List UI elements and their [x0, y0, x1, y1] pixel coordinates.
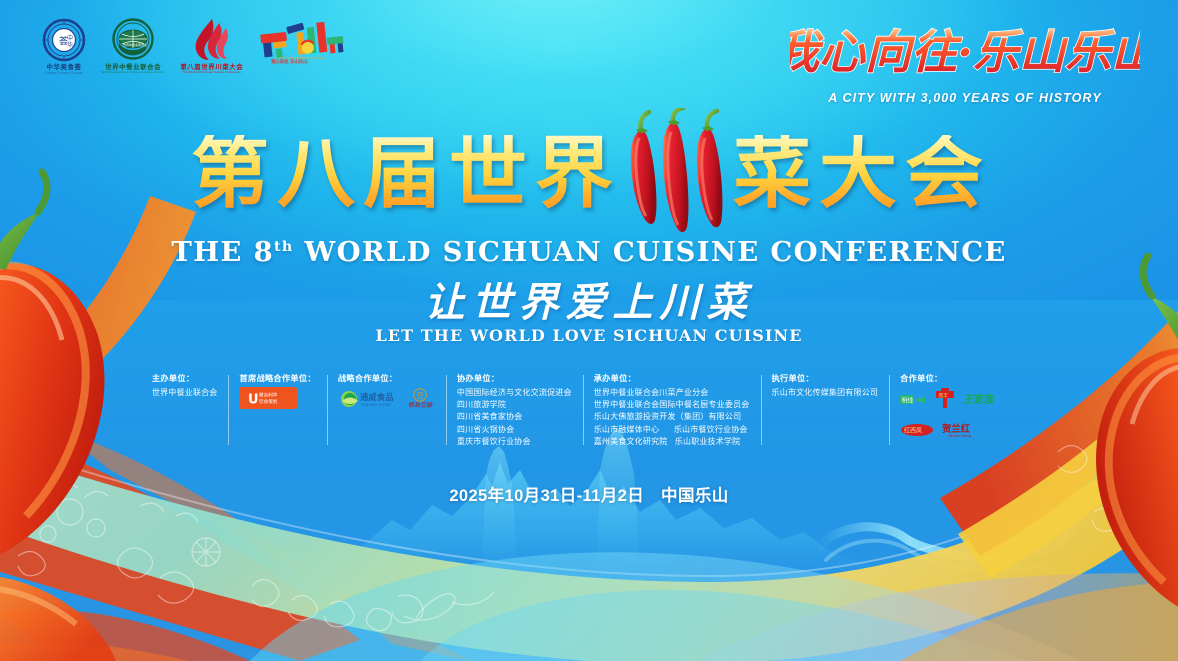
- svg-text:He Lan Hong: He Lan Hong: [948, 434, 971, 438]
- logo-caption-en: World Federation of Chinese Catering Ind…: [102, 71, 165, 74]
- title-char: 菜: [731, 135, 817, 213]
- credit-heading: 战略合作单位：: [338, 372, 435, 384]
- red-flame-icon: [186, 18, 238, 62]
- svg-text:中: 中: [67, 34, 73, 42]
- wangjiaxiang-icon: 王家渡: [964, 392, 1004, 406]
- credit-column-co-organizers: 协办单位： 中国国际经济与文化交流促进会 四川旅游学院 四川省美食家协会 四川省…: [446, 372, 583, 448]
- he-lan-hong-icon: 贺兰红 He Lan Hong: [942, 422, 986, 438]
- main-title-cn: 第 八 届 世 界: [0, 126, 1178, 222]
- credit-column-strategic-partners: 战略合作单位： 通威食品 TONGWEI FOODS: [327, 372, 446, 448]
- credit-line: 四川省火锅协会: [457, 424, 572, 436]
- city-slogan-en: A CITY WITH 3,000 YEARS OF HISTORY: [790, 91, 1140, 105]
- logo-leshan-city-brand: 我心向往 乐山乐山 A CITY WITH 3,000 YEARS OF HIS…: [257, 18, 353, 66]
- credit-heading: 首席战略合作单位：: [239, 372, 315, 384]
- tongwei-foods-icon: 通威食品 TONGWEI FOODS: [338, 388, 398, 410]
- credit-column-partners: 合作单位： 明佳 鼎丰: [889, 372, 1037, 448]
- title-char: 世: [447, 135, 533, 213]
- credit-line: 乐山大佛旅游投资开发（集团）有限公司: [594, 411, 750, 423]
- svg-text:世界中餐业联合会: 世界中餐业联合会: [123, 42, 147, 47]
- credit-heading: 执行单位：: [772, 372, 879, 384]
- credit-line: 嘉州美食文化研究院 乐山职业技术学院: [594, 436, 750, 448]
- title-char: 八: [275, 135, 361, 213]
- svg-text:王家渡: 王家渡: [964, 393, 995, 406]
- event-dateline: 2025年10月31日-11月2日 中国乐山: [0, 482, 1178, 506]
- logo-china-gourmet-assembly: 荟 中 华 中华美食荟 Galaxy Chinese Cuisine: [42, 18, 86, 75]
- main-title-en-suffix: WORLD SICHUAN CUISINE CONFERENCE: [294, 236, 1007, 268]
- svg-text:联合利华: 联合利华: [259, 392, 278, 399]
- svg-text:TONGWEI FOODS: TONGWEI FOODS: [360, 403, 391, 407]
- credit-column-executor: 执行单位： 乐山市文化传媒集团有限公司: [761, 372, 890, 448]
- svg-text:A CITY WITH 3,000 YEARS OF HIS: A CITY WITH 3,000 YEARS OF HISTORY: [275, 56, 325, 60]
- title-char: 第: [189, 135, 275, 213]
- credit-line: 世界中餐业联合会川菜产业分会: [594, 387, 750, 399]
- city-slogan: 我心向往·乐山乐山 A CITY WITH 3,000 YEARS OF HIS…: [790, 22, 1140, 105]
- logo-dezhuang-seasoning: 豆 郫县豆瓣: [405, 387, 435, 416]
- calligraphy-slogan: 让世界爱上川菜 LET THE WORLD LOVE SICHUAN CUISI…: [0, 282, 1178, 345]
- credit-heading: 合作单位：: [900, 372, 1026, 384]
- main-title-en-ordinal: th: [274, 239, 294, 255]
- logo-world-sichuan-cuisine-conference: 第八届世界川菜大会 The 8th World Sichuan Cuisine …: [180, 18, 243, 75]
- logo-caption-en: Galaxy Chinese Cuisine: [45, 71, 83, 75]
- city-slogan-calligraphy: 我心向往·乐山乐山: [790, 22, 1140, 84]
- credit-logo-list: 通威食品 TONGWEI FOODS 豆 郫县豆瓣: [338, 387, 435, 416]
- credit-column-organizer: 主办单位： 世界中餐业联合会: [141, 372, 229, 448]
- logo-partner-brand-2: 鼎丰: [934, 387, 956, 416]
- main-title-en-prefix: THE 8: [171, 236, 274, 268]
- logo-wangjiaxiang: 王家渡: [964, 392, 1004, 411]
- title-char: 界: [533, 135, 619, 213]
- conference-banner: 荟 中 华 中华美食荟 Galaxy Chinese Cuisine: [0, 0, 1178, 661]
- logo-partner-brand-4: 红西凤: [900, 423, 934, 442]
- credit-line: 世界中餐业联合会: [152, 387, 218, 399]
- title-char: 大: [817, 135, 903, 213]
- credit-heading: 承办单位：: [594, 372, 750, 384]
- calligraphy-slogan-en: LET THE WORLD LOVE SICHUAN CUISINE: [0, 326, 1178, 345]
- title-char-chuan-chili-peppers: [623, 126, 727, 222]
- city-slogan-cn: 我心向往·乐山乐山: [790, 25, 1140, 79]
- svg-text:华: 华: [67, 41, 73, 49]
- svg-text:红西凤: 红西凤: [904, 427, 922, 435]
- china-gourmet-assembly-icon: 荟 中 华: [42, 18, 86, 62]
- partner-brand-2-icon: 鼎丰: [934, 387, 956, 411]
- unilever-food-solutions-icon: U 联合利华 饮食策划: [239, 387, 297, 411]
- svg-text:饮食策划: 饮食策划: [259, 398, 278, 405]
- logo-unilever-food-solutions: U 联合利华 饮食策划: [239, 387, 297, 416]
- credit-line: 乐山市融媒体中心 乐山市餐饮行业协会: [594, 424, 750, 436]
- svg-text:郫县豆瓣: 郫县豆瓣: [408, 401, 433, 409]
- credit-line: 乐山市文化传媒集团有限公司: [772, 387, 879, 399]
- logo-world-federation-chinese-catering: 世界中餐业联合会 世界中餐业联合会 World Federation of Ch…: [100, 18, 166, 75]
- credit-line: 世界中餐业联合会国际中餐名厨专业委员会: [594, 399, 750, 411]
- logo-tongwei-foods: 通威食品 TONGWEI FOODS: [338, 388, 398, 415]
- main-title: 第 八 届 世 界: [0, 126, 1178, 268]
- svg-text:通威食品: 通威食品: [360, 392, 394, 402]
- credit-heading: 协办单位：: [457, 372, 572, 384]
- credit-column-hosts: 承办单位： 世界中餐业联合会川菜产业分会 世界中餐业联合会国际中餐名厨专业委员会…: [583, 372, 761, 448]
- credit-line: 重庆市餐饮行业协会: [457, 436, 572, 448]
- credit-logo-list: U 联合利华 饮食策划: [239, 387, 315, 416]
- credit-line: 中国国际经济与文化交流促进会: [457, 387, 572, 399]
- credit-column-chief-strategic-partner: 首席战略合作单位： U 联合利华 饮食策划: [228, 372, 326, 448]
- svg-text:明佳: 明佳: [902, 396, 914, 404]
- svg-text:U: U: [248, 393, 259, 408]
- logo-caption-en: The 8th World Sichuan Cuisine Conference: [182, 71, 242, 74]
- credit-line: 四川省美食家协会: [457, 411, 572, 423]
- credit-line: 四川旅游学院: [457, 399, 572, 411]
- calligraphy-slogan-cn: 让世界爱上川菜: [0, 282, 1178, 324]
- globe-emblem-icon: 世界中餐业联合会: [110, 18, 156, 62]
- partner-brand-4-icon: 红西凤: [900, 423, 934, 437]
- partner-brand-1-icon: 明佳: [900, 394, 926, 406]
- credit-heading: 主办单位：: [152, 372, 218, 384]
- title-char: 会: [903, 135, 989, 213]
- credit-logo-list: 明佳 鼎丰 王家渡: [900, 387, 1026, 443]
- svg-text:豆: 豆: [416, 391, 424, 400]
- header-logo-strip: 荟 中 华 中华美食荟 Galaxy Chinese Cuisine: [42, 18, 353, 75]
- leshan-city-brand-icon: 我心向往 乐山乐山 A CITY WITH 3,000 YEARS OF HIS…: [257, 18, 353, 66]
- logo-he-lan-hong: 贺兰红 He Lan Hong: [942, 422, 986, 443]
- svg-text:鼎丰: 鼎丰: [939, 392, 949, 399]
- title-char: 届: [361, 135, 447, 213]
- dezhuang-seasoning-icon: 豆 郫县豆瓣: [405, 387, 435, 411]
- credits-strip: 主办单位： 世界中餐业联合会 首席战略合作单位： U 联合利华 饮食策划: [0, 372, 1178, 448]
- main-title-en: THE 8th WORLD SICHUAN CUISINE CONFERENCE: [0, 236, 1178, 268]
- logo-partner-brand-1: 明佳: [900, 393, 926, 411]
